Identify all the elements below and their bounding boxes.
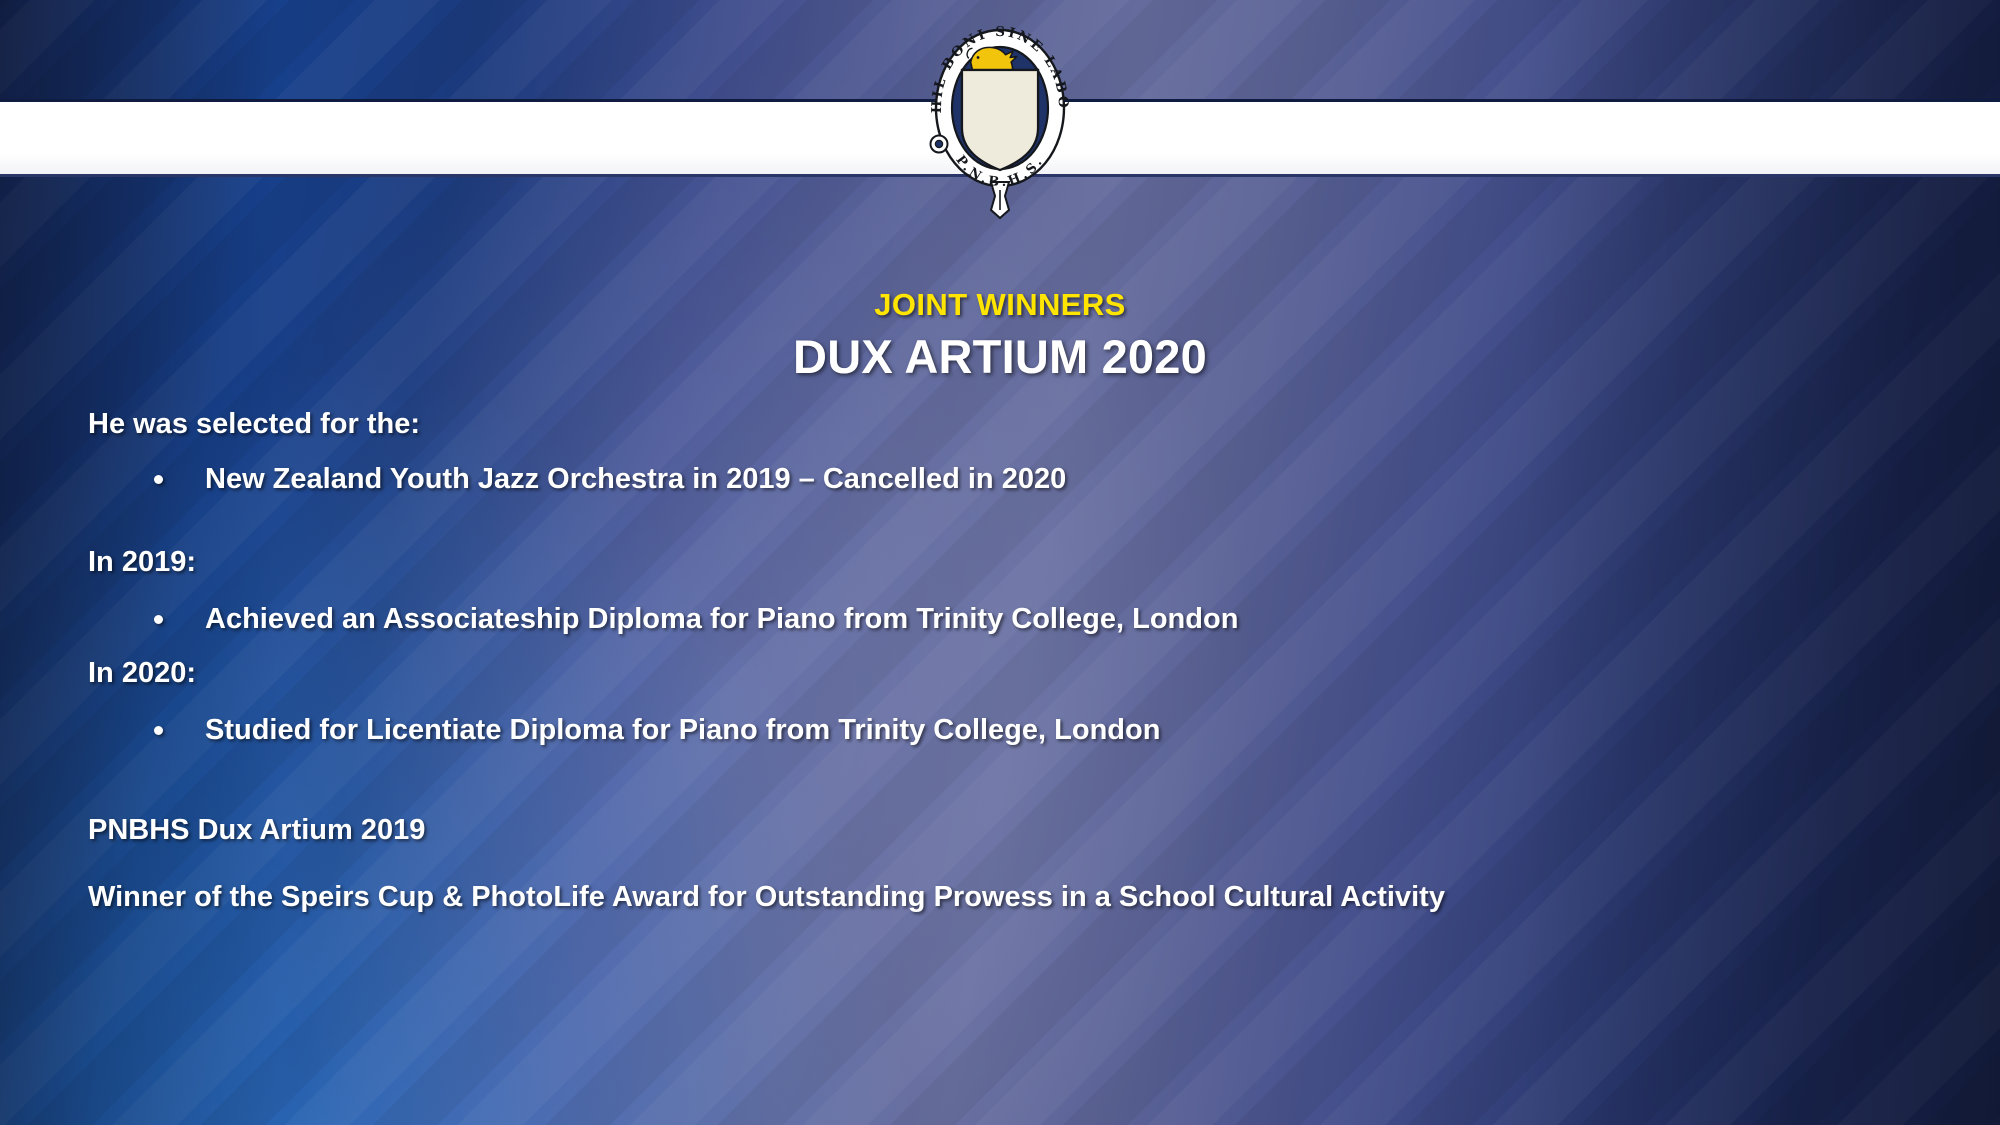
bullet-list-selected: New Zealand Youth Jazz Orchestra in 2019… xyxy=(88,461,1940,499)
bullet-dot-icon xyxy=(154,475,163,484)
bullet-list-2019: Achieved an Associateship Diploma for Pi… xyxy=(88,601,1940,639)
slide-canvas: NIHIL BONI SINE LABORE P.N.B.H.S. xyxy=(0,0,2000,1125)
section-heading-2020: In 2020: xyxy=(88,655,1940,693)
bullet-dot-icon xyxy=(154,726,163,735)
spacer xyxy=(88,638,1940,655)
spacer xyxy=(88,499,1940,544)
kicker-joint-winners: JOINT WINNERS xyxy=(0,288,2000,323)
spacer xyxy=(88,750,1940,812)
list-item-label: Studied for Licentiate Diploma for Piano… xyxy=(205,714,1160,746)
spacer xyxy=(88,849,1940,879)
list-item-label: New Zealand Youth Jazz Orchestra in 2019… xyxy=(205,463,1066,495)
list-item: Studied for Licentiate Diploma for Piano… xyxy=(88,712,1940,750)
section-heading-2019: In 2019: xyxy=(88,544,1940,582)
pnbhs-crest-icon: NIHIL BONI SINE LABORE P.N.B.H.S. xyxy=(917,4,1083,230)
prior-award-line: PNBHS Dux Artium 2019 xyxy=(88,812,1940,850)
lead-line: He was selected for the: xyxy=(88,406,1940,442)
list-item: Achieved an Associateship Diploma for Pi… xyxy=(88,601,1940,639)
bullet-dot-icon xyxy=(154,615,163,624)
cultural-award-line: Winner of the Speirs Cup & PhotoLife Awa… xyxy=(88,879,1940,917)
title-block: JOINT WINNERS DUX ARTIUM 2020 xyxy=(0,288,2000,385)
page-title: DUX ARTIUM 2020 xyxy=(0,329,2000,385)
list-item-label: Achieved an Associateship Diploma for Pi… xyxy=(205,603,1238,635)
content-body: He was selected for the: New Zealand You… xyxy=(88,406,1940,917)
list-item: New Zealand Youth Jazz Orchestra in 2019… xyxy=(88,461,1940,499)
bullet-list-2020: Studied for Licentiate Diploma for Piano… xyxy=(88,712,1940,750)
